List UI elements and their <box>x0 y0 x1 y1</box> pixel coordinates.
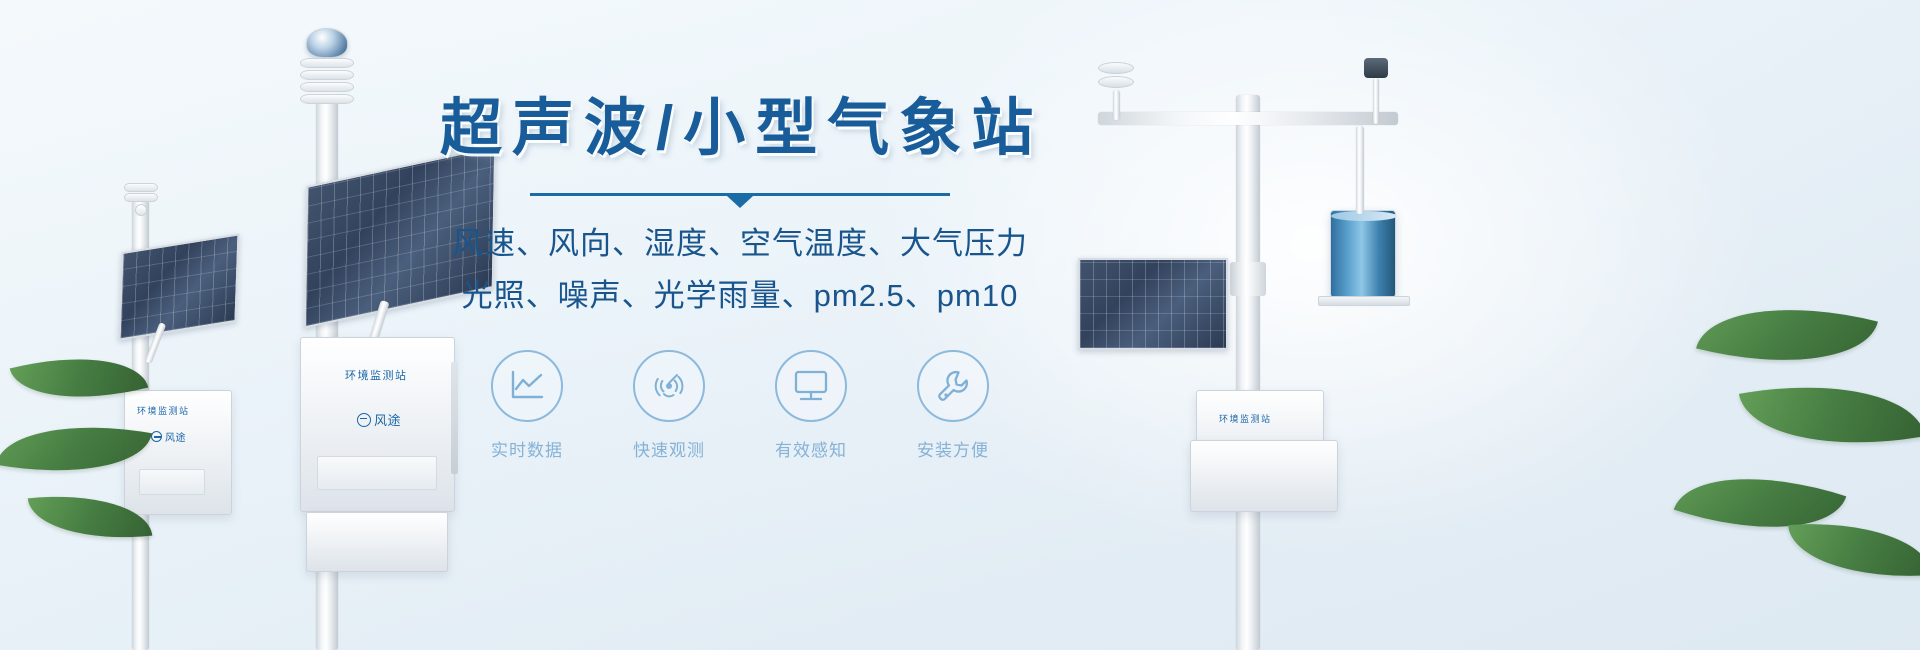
brand-name-center: 风途 <box>374 410 401 429</box>
subtitle-line-1: 风速、风向、湿度、空气温度、大气压力 <box>440 220 1040 268</box>
brand-name-left: 风途 <box>165 429 186 444</box>
wind-vane-sensor-right <box>1364 58 1388 124</box>
feature-icon-circle <box>775 350 847 422</box>
feature-item-easy-installation[interactable]: 安装方便 <box>905 350 1001 461</box>
feature-label: 快速观测 <box>621 436 717 461</box>
banner-content: 超声波/小型气象站 风速、风向、湿度、空气温度、大气压力 光照、噪声、光学雨量、… <box>440 96 1040 461</box>
cabinet-center: 环境监测站 风途 <box>300 337 455 512</box>
mast-pole-right <box>1236 95 1260 650</box>
wrench-icon <box>935 368 971 404</box>
optical-dome-sensor-center <box>306 28 348 58</box>
monitor-screen-icon <box>792 369 830 403</box>
feature-label: 实时数据 <box>479 436 575 461</box>
cabinet-label-center: 环境监测站 <box>345 367 408 383</box>
subtitle-line-2: 光照、噪声、光学雨量、pm2.5、pm10 <box>440 272 1040 320</box>
cabinet-left: 环境监测站 风途 <box>124 390 232 515</box>
ultrasonic-anemometer-right <box>1098 62 1134 120</box>
cabinet-base-center <box>306 512 448 572</box>
brand-mark-icon <box>357 413 371 427</box>
cabinet-lower-right <box>1190 440 1338 512</box>
feature-list: 实时数据 快速观测 <box>440 350 1040 461</box>
cross-arm-right <box>1098 112 1398 125</box>
product-banner: 环境监测站 风途 环境监测站 风途 <box>0 0 1920 650</box>
feature-item-fast-observation[interactable]: 快速观测 <box>621 350 717 461</box>
cabinet-label-left: 环境监测站 <box>137 404 190 417</box>
feature-label: 安装方便 <box>905 436 1001 461</box>
radiation-shield-center <box>300 58 354 104</box>
cabinet-label-right: 环境监测站 <box>1219 412 1272 425</box>
title-divider <box>530 193 950 196</box>
feature-label: 有效感知 <box>763 436 859 461</box>
brand-logo-left: 风途 <box>151 429 186 444</box>
feature-icon-circle <box>491 350 563 422</box>
brand-logo-center: 风途 <box>357 410 401 429</box>
rain-gauge-right <box>1330 210 1396 298</box>
ultrasonic-sensor-left <box>124 183 158 216</box>
page-title: 超声波/小型气象站 <box>440 96 1040 161</box>
cabinet-vent-left <box>139 469 205 495</box>
pole-collar-right <box>1230 262 1266 296</box>
feature-icon-circle <box>633 350 705 422</box>
radar-signal-icon <box>650 367 688 405</box>
brand-mark-icon <box>151 431 162 442</box>
rain-gauge-shelf-right <box>1318 296 1410 306</box>
line-chart-icon <box>509 369 545 403</box>
rain-gauge-mount-right <box>1356 126 1364 214</box>
cabinet-vent-center <box>317 456 437 490</box>
feature-icon-circle <box>917 350 989 422</box>
feature-item-realtime-data[interactable]: 实时数据 <box>479 350 575 461</box>
solar-panel-right <box>1078 258 1228 350</box>
feature-item-effective-sensing[interactable]: 有效感知 <box>763 350 859 461</box>
